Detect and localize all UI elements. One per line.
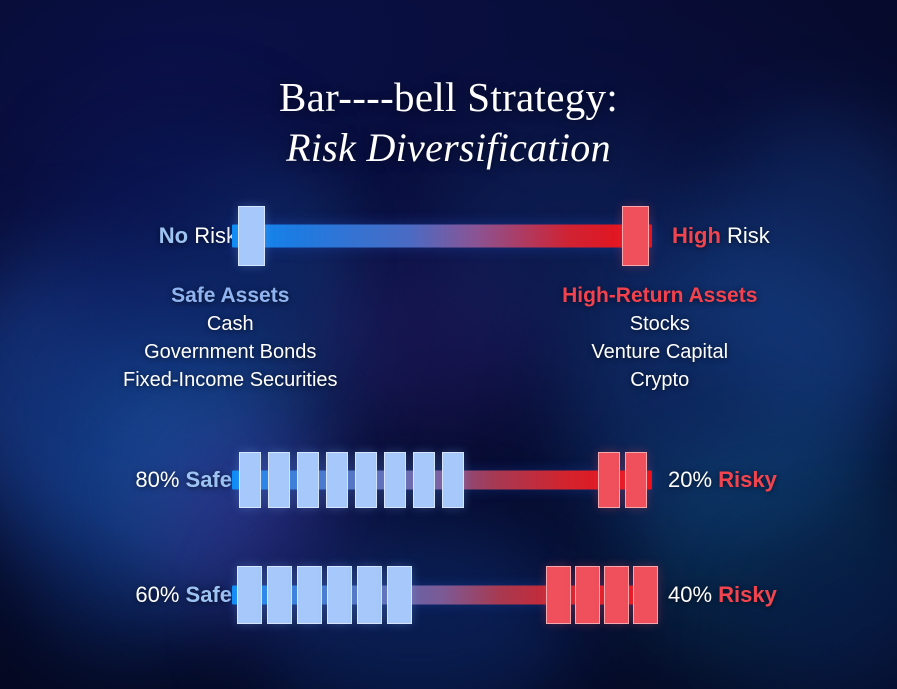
- allocation-left-label: 60% Safe: [135, 582, 232, 608]
- allocation-plate-safe: [267, 566, 292, 624]
- risk-spectrum-bar: [232, 225, 652, 248]
- allocation-left-label: 80% Safe: [135, 467, 232, 493]
- allocation-left-accent: Safe: [186, 467, 232, 492]
- allocation-plate-safe: [413, 452, 435, 508]
- allocation-plate-safe: [355, 452, 377, 508]
- page-subtitle: Risk Diversification: [0, 122, 897, 174]
- slide-canvas: Bar----bell Strategy: Risk Diversificati…: [0, 0, 897, 689]
- safe-assets-column: Safe Assets Cash Government Bonds Fixed-…: [6, 282, 455, 394]
- high-risk-label: High Risk: [672, 223, 770, 249]
- high-risk-accent: High: [672, 223, 721, 248]
- allocation-plate-safe: [268, 452, 290, 508]
- allocation-plate-safe: [327, 566, 352, 624]
- title-block: Bar----bell Strategy: Risk Diversificati…: [0, 72, 897, 174]
- asset-columns: Safe Assets Cash Government Bonds Fixed-…: [0, 282, 897, 394]
- allocation-right-accent: Risky: [718, 467, 777, 492]
- allocation-plate-risky: [633, 566, 658, 624]
- allocation-plate-safe: [442, 452, 464, 508]
- no-risk-rest: Risk: [194, 223, 237, 248]
- allocation-right-label: 20% Risky: [668, 467, 777, 493]
- barbell-plate-risky: [622, 206, 649, 266]
- risky-asset-item: Stocks: [436, 310, 885, 338]
- no-risk-label: No Risk: [159, 223, 237, 249]
- allocation-plate-safe: [357, 566, 382, 624]
- allocation-plate-safe: [384, 452, 406, 508]
- allocation-plate-risky: [625, 452, 647, 508]
- risky-asset-item: Crypto: [436, 366, 885, 394]
- allocation-left-accent: Safe: [186, 582, 232, 607]
- allocation-right-value: 20%: [668, 467, 712, 492]
- risky-asset-item: Venture Capital: [436, 338, 885, 366]
- allocation-plate-safe: [326, 452, 348, 508]
- allocation-left-value: 80%: [135, 467, 179, 492]
- barbell-plate-safe: [238, 206, 265, 266]
- allocation-right-value: 40%: [668, 582, 712, 607]
- allocation-row-80-20: 80% Safe 20% Risky: [0, 441, 897, 519]
- allocation-row-60-40: 60% Safe 40% Risky: [0, 556, 897, 634]
- risky-assets-column: High-Return Assets Stocks Venture Capita…: [436, 282, 885, 394]
- allocation-plate-risky: [546, 566, 571, 624]
- risk-spectrum-row: No Risk High Risk: [0, 196, 897, 276]
- allocation-plate-safe: [239, 452, 261, 508]
- allocation-plate-risky: [604, 566, 629, 624]
- safe-assets-heading: Safe Assets: [6, 282, 455, 310]
- allocation-plate-safe: [387, 566, 412, 624]
- safe-asset-item: Cash: [6, 310, 455, 338]
- no-risk-accent: No: [159, 223, 188, 248]
- allocation-plate-safe: [237, 566, 262, 624]
- safe-asset-item: Government Bonds: [6, 338, 455, 366]
- allocation-plate-risky: [575, 566, 600, 624]
- allocation-right-accent: Risky: [718, 582, 777, 607]
- page-title: Bar----bell Strategy:: [0, 72, 897, 122]
- allocation-plate-safe: [297, 452, 319, 508]
- allocation-plate-safe: [297, 566, 322, 624]
- allocation-left-value: 60%: [135, 582, 179, 607]
- allocation-plate-risky: [598, 452, 620, 508]
- safe-asset-item: Fixed-Income Securities: [6, 366, 455, 394]
- allocation-right-label: 40% Risky: [668, 582, 777, 608]
- risky-assets-heading: High-Return Assets: [436, 282, 885, 310]
- high-risk-rest: Risk: [727, 223, 770, 248]
